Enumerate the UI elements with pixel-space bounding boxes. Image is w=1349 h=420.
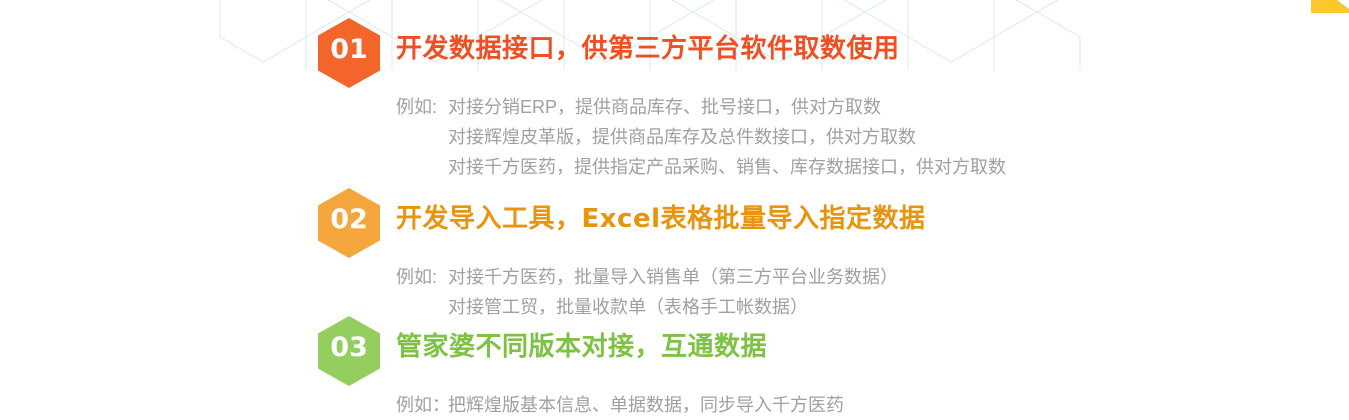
detail-lead: 例如: — [396, 262, 448, 292]
detail-text: 对接千方医药，提供指定产品采购、销售、库存数据接口，供对方取数 — [448, 157, 1006, 177]
feature-header-01: 01 开发数据接口，供第三方平台软件取数使用 — [318, 18, 1006, 88]
detail-line: 例如:对接千方医药，批量导入销售单（第三方平台业务数据） — [396, 262, 926, 292]
detail-lead: 例如: — [396, 92, 448, 122]
detail-line: 对接辉煌皮革版，提供商品库存及总件数接口，供对方取数 — [396, 122, 1006, 152]
feature-section-03: 03 管家婆不同版本对接，互通数据 例如：把辉煌版基本信息、单据数据，同步导入千… — [318, 316, 844, 420]
detail-text: 对接辉煌皮革版，提供商品库存及总件数接口，供对方取数 — [448, 127, 916, 147]
hex-badge-number-01: 01 — [330, 36, 368, 63]
hex-badge-01: 01 — [318, 18, 380, 88]
detail-text: 对接分销ERP，提供商品库存、批号接口，供对方取数 — [448, 97, 881, 117]
feature-details-03: 例如：把辉煌版基本信息、单据数据，同步导入千方医药 — [396, 390, 844, 420]
detail-line: 例如:对接分销ERP，提供商品库存、批号接口，供对方取数 — [396, 92, 1006, 122]
detail-text: 对接千方医药，批量导入销售单（第三方平台业务数据） — [448, 267, 898, 287]
feature-section-02: 02 开发导入工具，Excel表格批量导入指定数据 例如:对接千方医药，批量导入… — [318, 188, 926, 322]
feature-section-01: 01 开发数据接口，供第三方平台软件取数使用 例如:对接分销ERP，提供商品库存… — [318, 18, 1006, 182]
feature-details-02: 例如:对接千方医药，批量导入销售单（第三方平台业务数据） 对接管工贸，批量收款单… — [396, 262, 926, 322]
feature-heading-01: 开发数据接口，供第三方平台软件取数使用 — [396, 18, 900, 62]
detail-lead: 例如： — [396, 390, 448, 420]
hex-badge-number-03: 03 — [330, 334, 368, 361]
detail-line: 例如：把辉煌版基本信息、单据数据，同步导入千方医药 — [396, 390, 844, 420]
detail-line: 对接千方医药，提供指定产品采购、销售、库存数据接口，供对方取数 — [396, 152, 1006, 182]
feature-header-02: 02 开发导入工具，Excel表格批量导入指定数据 — [318, 188, 926, 258]
hex-badge-number-02: 02 — [330, 206, 368, 233]
detail-text: 对接管工贸，批量收款单（表格手工帐数据） — [448, 297, 808, 317]
feature-heading-03: 管家婆不同版本对接，互通数据 — [396, 316, 767, 360]
detail-text: 把辉煌版基本信息、单据数据，同步导入千方医药 — [448, 395, 844, 415]
hex-badge-02: 02 — [318, 188, 380, 258]
feature-details-01: 例如:对接分销ERP，提供商品库存、批号接口，供对方取数 对接辉煌皮革版，提供商… — [396, 92, 1006, 182]
feature-list: 01 开发数据接口，供第三方平台软件取数使用 例如:对接分销ERP，提供商品库存… — [0, 0, 1349, 403]
feature-heading-02: 开发导入工具，Excel表格批量导入指定数据 — [396, 188, 926, 232]
feature-header-03: 03 管家婆不同版本对接，互通数据 — [318, 316, 844, 386]
corner-ribbon — [1311, 0, 1349, 13]
hex-badge-03: 03 — [318, 316, 380, 386]
